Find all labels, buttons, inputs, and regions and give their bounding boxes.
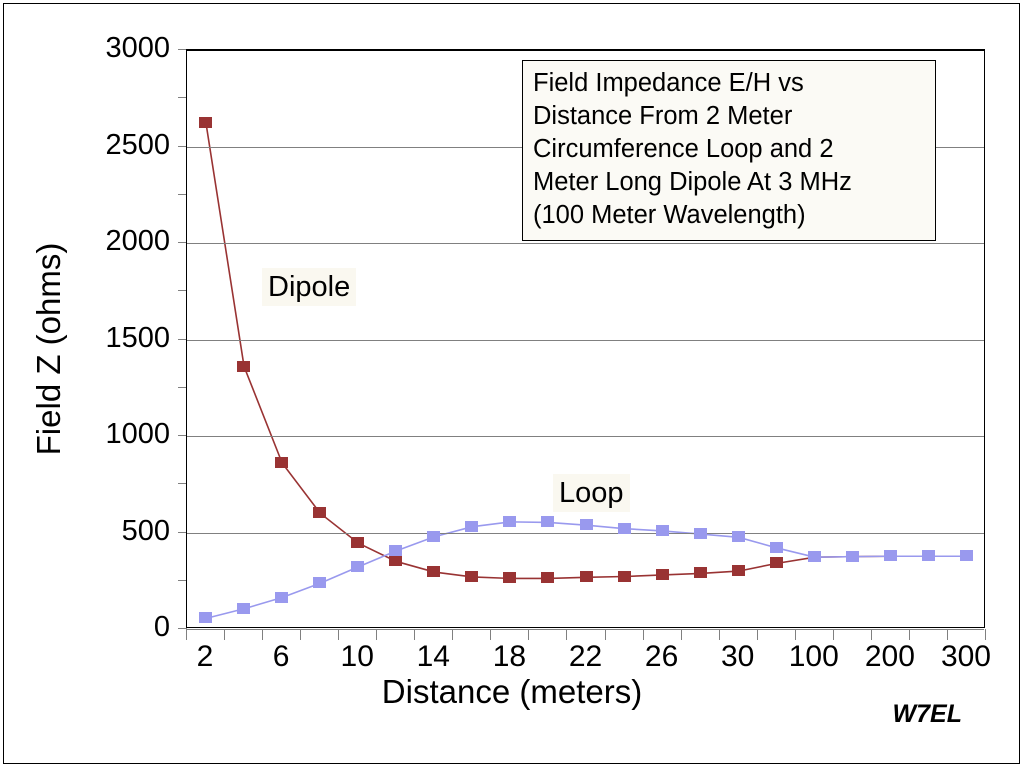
data-point-dipole — [618, 571, 631, 582]
x-tick — [681, 629, 682, 640]
data-point-loop — [960, 550, 973, 561]
x-tick — [605, 629, 606, 640]
x-tick-label: 6 — [273, 641, 290, 673]
x-tick — [719, 629, 720, 640]
x-tick-label: 300 — [941, 641, 991, 673]
y-tick-label: 1000 — [0, 420, 170, 449]
data-point-loop — [541, 516, 554, 527]
data-point-loop — [275, 592, 288, 603]
data-point-loop — [732, 531, 745, 542]
x-tick-label: 18 — [493, 641, 526, 673]
y-tick-label: 3000 — [0, 34, 170, 63]
chart-title-line: Meter Long Dipole At 3 MHz — [533, 166, 927, 199]
data-point-dipole — [580, 571, 593, 582]
x-tick — [757, 629, 758, 640]
x-tick — [376, 629, 377, 640]
data-point-loop — [656, 525, 669, 536]
data-point-dipole — [465, 571, 478, 582]
data-point-dipole — [351, 537, 364, 548]
data-point-loop — [884, 550, 897, 561]
chart-title-line: Distance From 2 Meter — [533, 100, 927, 133]
y-axis: 050010001500200025003000 — [0, 0, 186, 768]
y-axis-title: Field Z (ohms) — [30, 119, 68, 579]
y-tick-label: 0 — [0, 613, 170, 642]
y-gridline — [187, 533, 984, 534]
y-gridline — [187, 243, 984, 244]
x-tick — [528, 629, 529, 640]
data-point-loop — [427, 531, 440, 542]
chart-title-line: (100 Meter Wavelength) — [533, 199, 927, 232]
x-axis-title: Distance (meters) — [0, 673, 1024, 711]
data-point-dipole — [503, 572, 516, 583]
data-point-loop — [313, 577, 326, 588]
y-tick-label: 2500 — [0, 131, 170, 160]
x-tick-label: 30 — [721, 641, 754, 673]
x-tick-label: 14 — [417, 641, 450, 673]
x-tick — [414, 629, 415, 640]
series-line-loop — [206, 522, 967, 619]
data-point-dipole — [275, 457, 288, 468]
x-tick-label: 22 — [569, 641, 602, 673]
x-tick — [186, 629, 187, 640]
series-label-loop: Loop — [553, 474, 630, 512]
data-point-loop — [351, 561, 364, 572]
y-gridline — [187, 436, 984, 437]
data-point-loop — [770, 542, 783, 553]
data-point-dipole — [313, 507, 326, 518]
data-point-dipole — [541, 572, 554, 583]
y-tick-label: 1500 — [0, 324, 170, 353]
data-point-dipole — [732, 565, 745, 576]
data-point-dipole — [199, 117, 212, 128]
x-tick — [452, 629, 453, 640]
data-point-loop — [808, 551, 821, 562]
data-point-dipole — [694, 567, 707, 578]
data-point-dipole — [427, 566, 440, 577]
x-tick — [338, 629, 339, 640]
data-point-loop — [694, 528, 707, 539]
data-point-loop — [503, 516, 516, 527]
x-tick-label: 26 — [645, 641, 678, 673]
data-point-loop — [580, 519, 593, 530]
x-tick — [643, 629, 644, 640]
x-tick — [300, 629, 301, 640]
x-tick-label: 10 — [341, 641, 374, 673]
chart-title-box: Field Impedance E/H vsDistance From 2 Me… — [522, 60, 936, 241]
y-gridline — [187, 629, 984, 630]
series-label-dipole: Dipole — [262, 268, 356, 306]
data-point-loop — [922, 550, 935, 561]
x-tick-label: 200 — [865, 641, 915, 673]
data-point-loop — [618, 523, 631, 534]
x-tick — [871, 629, 872, 640]
data-point-loop — [465, 521, 478, 532]
data-point-dipole — [237, 361, 250, 372]
chart-title-line: Circumference Loop and 2 — [533, 133, 927, 166]
chart-figure: 050010001500200025003000 Field Z (ohms) … — [0, 0, 1024, 768]
data-point-dipole — [656, 569, 669, 580]
x-tick — [262, 629, 263, 640]
data-point-loop — [237, 603, 250, 614]
x-tick — [947, 629, 948, 640]
data-point-dipole — [389, 555, 402, 566]
watermark: W7EL — [893, 700, 962, 729]
data-point-loop — [389, 545, 402, 556]
x-tick-label: 100 — [789, 641, 839, 673]
x-tick-label: 2 — [197, 641, 214, 673]
x-tick — [795, 629, 796, 640]
x-tick — [566, 629, 567, 640]
x-tick — [833, 629, 834, 640]
y-tick-label: 2000 — [0, 227, 170, 256]
y-gridline — [187, 50, 984, 51]
x-tick — [490, 629, 491, 640]
x-tick — [909, 629, 910, 640]
y-tick-label: 500 — [0, 517, 170, 546]
data-point-dipole — [770, 557, 783, 568]
y-gridline — [187, 340, 984, 341]
chart-title-line: Field Impedance E/H vs — [533, 67, 927, 100]
x-tick — [224, 629, 225, 640]
data-point-loop — [199, 612, 212, 623]
data-point-loop — [846, 551, 859, 562]
x-tick — [985, 629, 986, 640]
